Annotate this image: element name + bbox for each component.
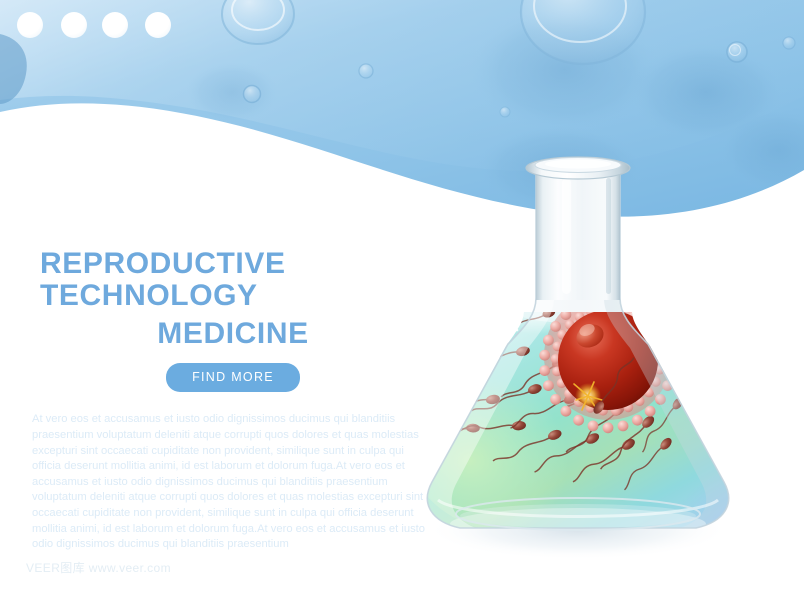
sperm-cell: [446, 202, 519, 247]
watermark-footer: VEER图库 www.veer.com: [26, 559, 171, 576]
flask-neck-highlight: [562, 178, 571, 294]
poster-canvas: REPRODUCTIVE TECHNOLOGY MEDICINE FIND MO…: [0, 0, 804, 590]
find-more-button[interactable]: FIND MORE: [166, 363, 300, 392]
bubble-small: [244, 86, 261, 103]
bubble-small: [783, 37, 795, 49]
page-title-line2: MEDICINE: [32, 318, 494, 350]
header-dot: [145, 12, 171, 38]
body-paragraph: At vero eos et accusamus et iusto odio d…: [32, 412, 430, 552]
header-dot: [61, 12, 87, 38]
header-dot: [17, 12, 43, 38]
hero-copy-block: REPRODUCTIVE TECHNOLOGY MEDICINE FIND MO…: [32, 248, 494, 553]
flask-rim: [526, 157, 630, 179]
bubble-small: [727, 42, 747, 62]
bubble-small: [359, 64, 373, 78]
water-blur-blob: [186, 62, 278, 122]
header-dot: [102, 12, 128, 38]
page-title-line1: REPRODUCTIVE TECHNOLOGY: [32, 248, 494, 312]
bubble-small: [500, 107, 510, 117]
cta-row: FIND MORE: [32, 363, 494, 392]
flask-neck-shadow: [606, 178, 611, 294]
